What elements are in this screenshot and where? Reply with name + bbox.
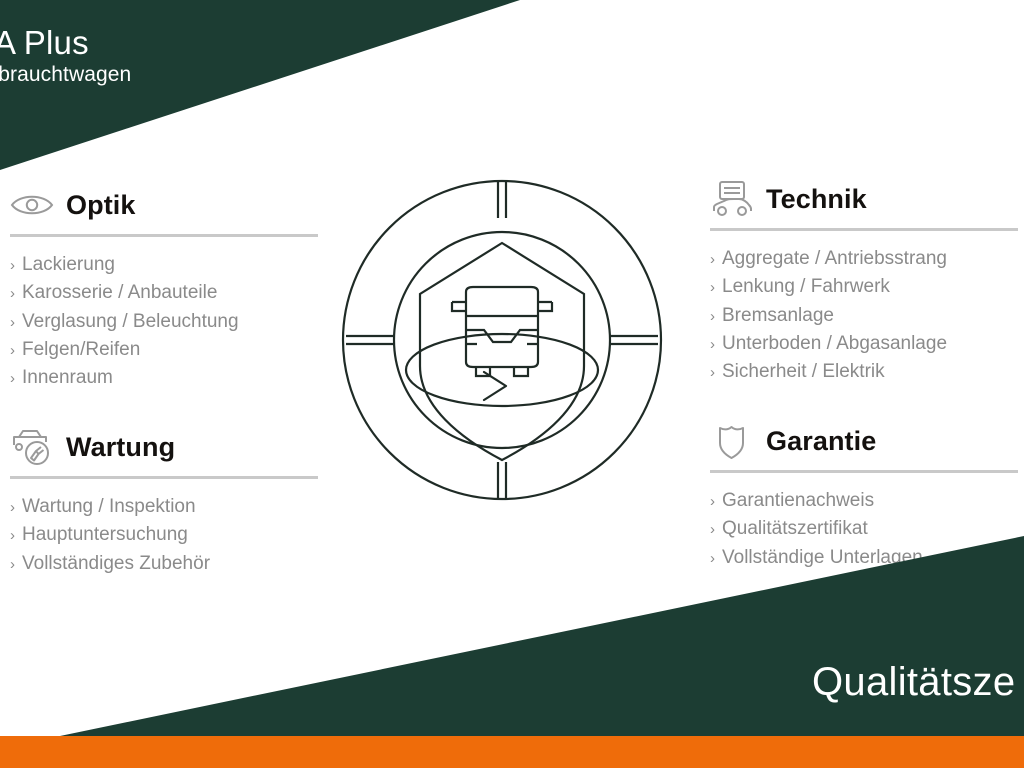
list-item[interactable]: ›Wartung / Inspektion [10, 493, 320, 521]
list-item[interactable]: ›Innenraum [10, 364, 320, 392]
list-item-label: Sicherheit / Elektrik [722, 358, 885, 386]
list-item[interactable]: ›Karosserie / Anbauteile [10, 279, 320, 307]
category-technik: Technik ›Aggregate / Antriebsstrang ›Len… [710, 176, 1020, 386]
list-item[interactable]: ›Aggregate / Antriebsstrang [710, 245, 1020, 273]
chevron-right-icon: › [10, 340, 15, 362]
list-item-label: Felgen/Reifen [22, 336, 140, 364]
category-title-optik: Optik [66, 190, 136, 221]
chevron-right-icon: › [10, 283, 15, 305]
list-item-label: Wartung / Inspektion [22, 493, 196, 521]
list-item[interactable]: ›Unterboden / Abgasanlage [710, 330, 1020, 358]
category-wartung: Wartung ›Wartung / Inspektion ›Hauptunte… [10, 424, 320, 578]
category-list-optik: ›Lackierung ›Karosserie / Anbauteile ›Ve… [10, 237, 320, 392]
chevron-right-icon: › [710, 334, 715, 356]
list-item-label: Aggregate / Antriebsstrang [722, 245, 947, 273]
list-item[interactable]: ›Lenkung / Fahrwerk [710, 273, 1020, 301]
eye-icon [10, 185, 56, 225]
list-item-label: Qualitätszertifikat [722, 515, 868, 543]
bottom-caption: Qualitätsze [812, 660, 1015, 705]
list-item[interactable]: ›Bremsanlage [710, 302, 1020, 330]
list-item-label: Innenraum [22, 364, 113, 392]
chevron-right-icon: › [710, 491, 715, 513]
chevron-right-icon: › [710, 249, 715, 271]
category-list-technik: ›Aggregate / Antriebsstrang ›Lenkung / F… [710, 231, 1020, 386]
category-header-optik: Optik [10, 182, 320, 228]
list-item-label: Verglasung / Beleuchtung [22, 308, 239, 336]
chevron-right-icon: › [710, 548, 715, 570]
brand-sub-text: Gebrauchtwagen [0, 64, 131, 85]
list-item[interactable]: ›Vollständiges Zubehör [10, 550, 320, 578]
car-lift-icon [710, 179, 756, 219]
category-title-wartung: Wartung [66, 432, 175, 463]
category-optik: Optik ›Lackierung ›Karosserie / Anbautei… [10, 182, 320, 392]
brand-main-text: DA Plus [0, 26, 131, 59]
chevron-right-icon: › [10, 554, 15, 576]
chevron-right-icon: › [710, 277, 715, 299]
chevron-right-icon: › [10, 255, 15, 277]
list-item[interactable]: ›Verglasung / Beleuchtung [10, 308, 320, 336]
list-item-label: Lenkung / Fahrwerk [722, 273, 890, 301]
category-header-technik: Technik [710, 176, 1020, 222]
slide-canvas: DA Plus Gebrauchtwagen Optik ›Lackierung… [0, 0, 1024, 768]
category-header-wartung: Wartung [10, 424, 320, 470]
chevron-right-icon: › [10, 312, 15, 334]
list-item[interactable]: ›Lackierung [10, 251, 320, 279]
chevron-right-icon: › [710, 519, 715, 541]
list-item[interactable]: ›Hauptuntersuchung [10, 521, 320, 549]
category-list-wartung: ›Wartung / Inspektion ›Hauptuntersuchung… [10, 479, 320, 578]
chevron-right-icon: › [710, 306, 715, 328]
list-item-label: Karosserie / Anbauteile [22, 279, 217, 307]
list-item[interactable]: ›Sicherheit / Elektrik [710, 358, 1020, 386]
chevron-right-icon: › [10, 368, 15, 390]
chevron-right-icon: › [10, 525, 15, 547]
list-item-label: Garantienachweis [722, 487, 874, 515]
category-title-garantie: Garantie [766, 426, 876, 457]
chevron-right-icon: › [10, 497, 15, 519]
category-title-technik: Technik [766, 184, 867, 215]
list-item[interactable]: ›Felgen/Reifen [10, 336, 320, 364]
list-item[interactable]: ›Garantienachweis [710, 487, 1020, 515]
list-item-label: Hauptuntersuchung [22, 521, 188, 549]
list-item-label: Vollständiges Zubehör [22, 550, 210, 578]
list-item-label: Bremsanlage [722, 302, 834, 330]
list-item[interactable]: ›Qualitätszertifikat [710, 515, 1020, 543]
list-item-label: Unterboden / Abgasanlage [722, 330, 947, 358]
list-item-label: Lackierung [22, 251, 115, 279]
bottom-orange-bar [0, 736, 1024, 768]
chevron-right-icon: › [710, 362, 715, 384]
car-wrench-icon [10, 427, 56, 467]
category-header-garantie: Garantie [710, 418, 1020, 464]
shield-icon [710, 421, 756, 461]
certified-vehicle-emblem [332, 170, 672, 510]
brand-lockup: DA Plus Gebrauchtwagen [0, 26, 131, 85]
